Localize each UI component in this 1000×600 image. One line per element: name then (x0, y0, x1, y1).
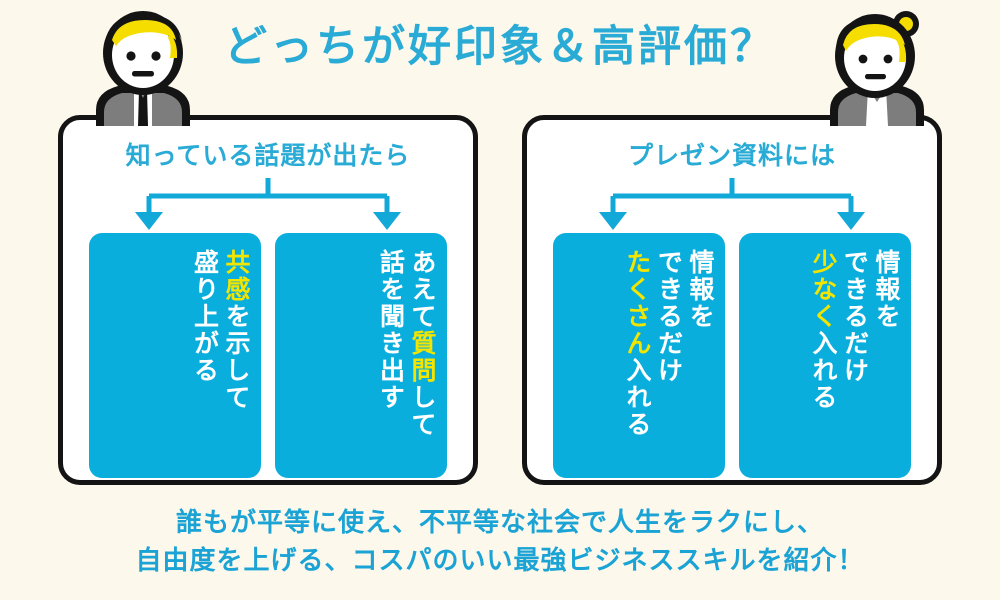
businesswoman-icon (812, 6, 942, 126)
highlight-text: 少なく (809, 249, 838, 330)
plain-text: 話を聞き出す (377, 249, 406, 411)
plain-text: できるだけ (841, 249, 870, 384)
card-ask-question: あえて質問して 話を聞き出す (275, 233, 447, 478)
card-much-info: 情報を できるだけ たくさん入れる (553, 233, 725, 478)
panel-presentation: プレゼン資料には 情報を できるだけ たくさん入れる 情報を できるだけ 少なく… (522, 115, 942, 485)
card-much-info-col-3: たくさん入れる (623, 249, 653, 438)
caption-block: 誰もが平等に使え、不平等な社会で人生をラクにし、 自由度を上げる、コスパのいい最… (0, 505, 1000, 580)
card-much-info-col-2: できるだけ (654, 249, 684, 384)
character-businesswoman (812, 6, 942, 126)
branch-arrow-icon (527, 176, 937, 234)
highlight-text: 共感 (222, 249, 251, 303)
plain-text: あえて (408, 249, 437, 330)
card-much-info-col-1: 情報を (686, 249, 716, 330)
branch-arrow-left (63, 176, 473, 234)
plain-text: 情報を (686, 249, 715, 330)
plain-text: 情報を (872, 249, 901, 330)
highlight-text: 質問 (408, 330, 437, 384)
card-little-info-col-2: できるだけ (840, 249, 870, 384)
card-empathy: 共感を示して 盛り上がる (89, 233, 261, 478)
card-empathy-col-2: 盛り上がる (190, 249, 220, 384)
card-little-info: 情報を できるだけ 少なく入れる (739, 233, 911, 478)
character-businessman (78, 6, 208, 126)
card-ask-question-col-1: あえて質問して (408, 249, 438, 438)
plain-text: を示して (222, 303, 251, 411)
panel-header-left: 知っている話題が出たら (63, 136, 473, 172)
card-ask-question-col-2: 話を聞き出す (376, 249, 406, 411)
caption-line-2: 自由度を上げる、コスパのいい最強ビジネススキルを紹介！ (0, 543, 1000, 581)
highlight-text: たくさん (623, 249, 652, 357)
card-little-info-col-1: 情報を (872, 249, 902, 330)
businessman-icon (78, 6, 208, 126)
panel-conversation: 知っている話題が出たら 共感を示して 盛り上がる あえて質問して 話を聞き出す (58, 115, 478, 485)
plain-text: できるだけ (655, 249, 684, 384)
branch-arrow-icon (63, 176, 473, 234)
card-little-info-col-3: 少なく入れる (809, 249, 839, 411)
card-empathy-col-1: 共感を示して (222, 249, 252, 411)
caption-line-1: 誰もが平等に使え、不平等な社会で人生をラクにし、 (0, 505, 1000, 543)
panel-header-right: プレゼン資料には (527, 136, 937, 172)
branch-arrow-right (527, 176, 937, 234)
plain-text: 入れる (809, 330, 838, 411)
plain-text: 入れる (623, 357, 652, 438)
plain-text: 盛り上がる (191, 249, 220, 384)
plain-text: して (408, 384, 437, 438)
